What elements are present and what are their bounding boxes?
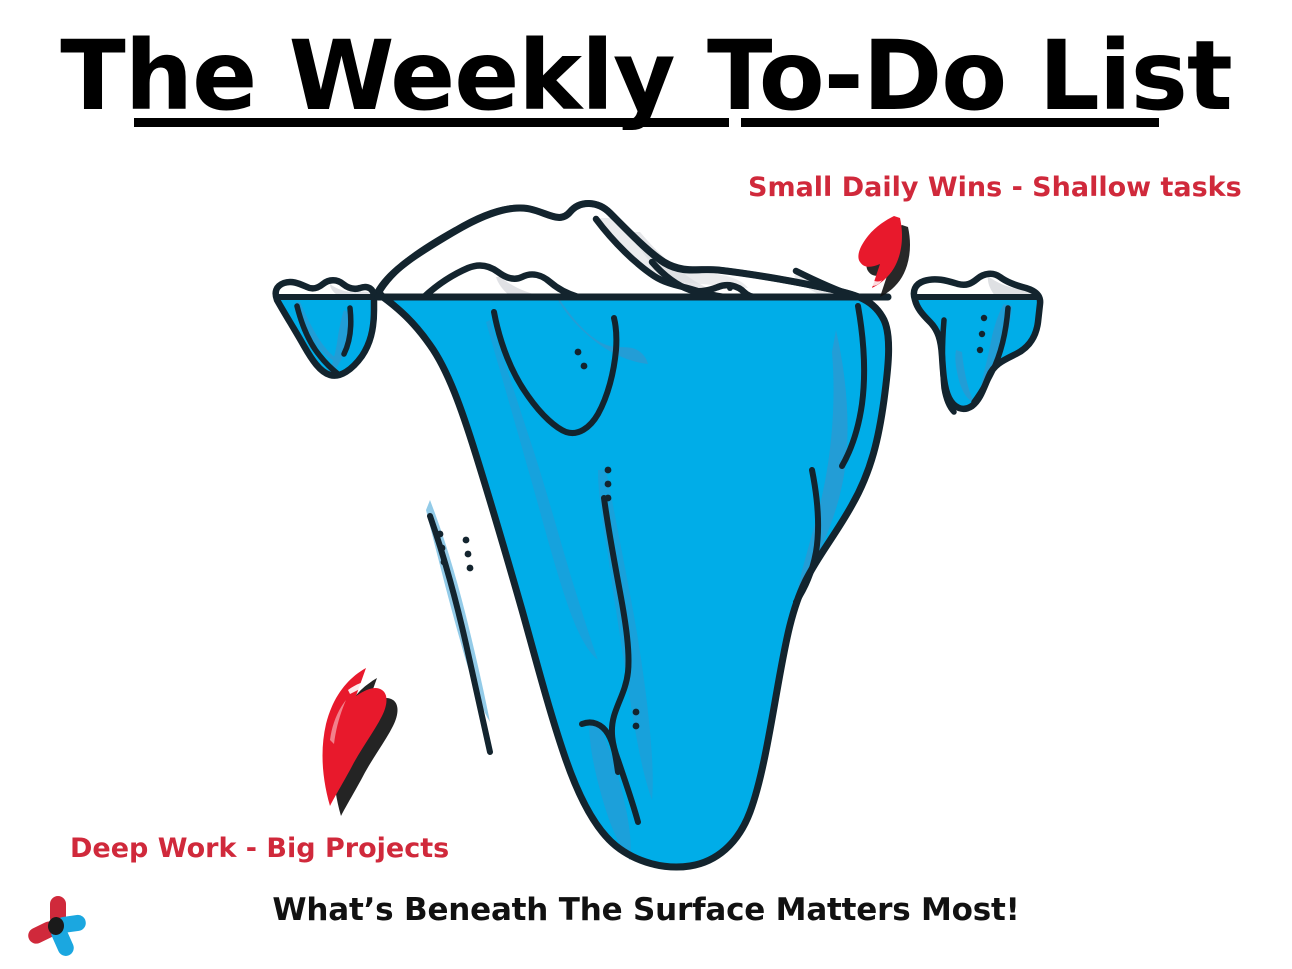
annotation-label-shallow-tasks: Small Daily Wins - Shallow tasks [748,172,1242,203]
footer-caption: What’s Beneath The Surface Matters Most! [0,892,1292,928]
iceberg-illustration [0,0,1292,969]
main-iceberg [378,203,889,867]
title-underline [0,118,1292,127]
left-ice-chunk [276,280,374,376]
arrow-deep-work [323,668,398,816]
arrow-shallow-tasks [858,216,910,297]
right-ice-chunk [914,274,1040,412]
annotation-label-deep-work: Deep Work - Big Projects [70,833,449,864]
slide-canvas: The Weekly To-Do List [0,0,1292,969]
title-underline-segment-right [741,118,1159,127]
pinwheel-logo [16,884,96,964]
title-underline-segment-left [134,118,729,127]
